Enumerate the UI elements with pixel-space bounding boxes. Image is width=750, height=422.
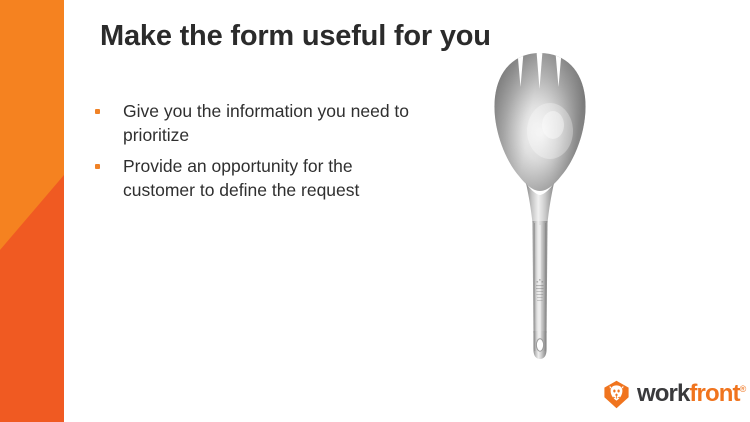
lion-shield-icon [603, 380, 630, 409]
accent-band [0, 0, 64, 422]
bullet-dot-icon [95, 164, 100, 169]
slide: Make the form useful for you Give you th… [0, 0, 750, 422]
spork-image [470, 45, 610, 375]
registered-trademark-icon: ® [740, 384, 747, 394]
logo-word-work: work [637, 380, 689, 407]
accent-band-lower-wedge [0, 0, 64, 422]
list-item-label: Give you the information you need to pri… [123, 99, 425, 147]
workfront-wordmark: workfront® [637, 382, 746, 406]
list-item-label: Provide an opportunity for the customer … [123, 154, 425, 202]
logo-word-front: front [689, 380, 739, 407]
workfront-logo: workfront® [603, 379, 746, 409]
list-item: Give you the information you need to pri… [95, 99, 425, 147]
bullet-list: Give you the information you need to pri… [95, 99, 425, 210]
bullet-dot-icon [95, 109, 100, 114]
list-item: Provide an opportunity for the customer … [95, 154, 425, 202]
